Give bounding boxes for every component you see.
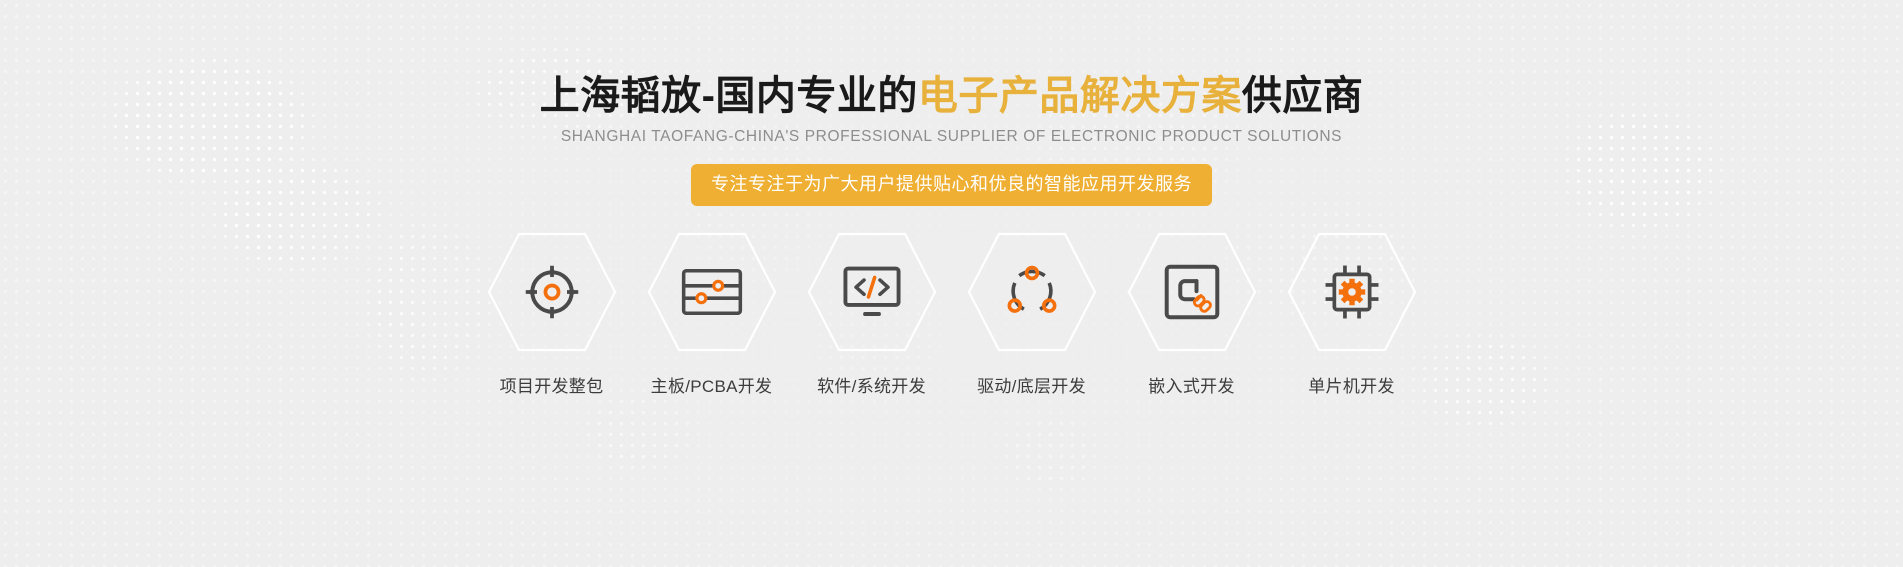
- page-subtitle: SHANGHAI TAOFANG-CHINA'S PROFESSIONAL SU…: [561, 128, 1342, 146]
- service-item-project-package[interactable]: 项目开发整包: [472, 230, 632, 397]
- service-item-driver[interactable]: 驱动/底层开发: [952, 230, 1112, 397]
- hexagon-frame: [966, 230, 1098, 354]
- service-label: 嵌入式开发: [1148, 372, 1235, 397]
- page-title: 上海韬放-国内专业的电子产品解决方案供应商: [540, 72, 1364, 120]
- service-list: 项目开发整包: [472, 230, 1432, 397]
- service-label: 驱动/底层开发: [977, 372, 1086, 397]
- service-item-software[interactable]: 软件/系统开发: [792, 230, 952, 397]
- hero-banner: 上海韬放-国内专业的电子产品解决方案供应商 SHANGHAI TAOFANG-C…: [0, 0, 1903, 567]
- service-item-pcba[interactable]: 主板/PCBA开发: [632, 230, 792, 397]
- mcu-gear-icon: [1321, 261, 1383, 323]
- service-label: 主板/PCBA开发: [651, 372, 773, 397]
- hexagon-frame: [646, 230, 778, 354]
- tagline-badge: 专注专注于为广大用户提供贴心和优良的智能应用开发服务: [691, 164, 1212, 206]
- service-label: 软件/系统开发: [817, 372, 926, 397]
- headline-prefix: 上海韬放-国内专业的: [540, 74, 918, 118]
- service-label: 项目开发整包: [500, 372, 604, 397]
- hexagon-frame: [1286, 230, 1418, 354]
- service-item-mcu[interactable]: 单片机开发: [1272, 230, 1432, 397]
- banner-content: 上海韬放-国内专业的电子产品解决方案供应商 SHANGHAI TAOFANG-C…: [0, 0, 1903, 567]
- headline-accent: 电子产品解决方案: [918, 74, 1242, 118]
- node-network-icon: [1001, 261, 1063, 323]
- service-item-embedded[interactable]: 嵌入式开发: [1112, 230, 1272, 397]
- hexagon-frame: [806, 230, 938, 354]
- hexagon-frame: [486, 230, 618, 354]
- embedded-chip-link-icon: [1161, 261, 1223, 323]
- hexagon-frame: [1126, 230, 1258, 354]
- crosshair-target-icon: [521, 261, 583, 323]
- circuit-board-icon: [681, 261, 743, 323]
- headline-suffix: 供应商: [1242, 74, 1364, 118]
- service-label: 单片机开发: [1308, 372, 1395, 397]
- monitor-code-icon: [841, 261, 903, 323]
